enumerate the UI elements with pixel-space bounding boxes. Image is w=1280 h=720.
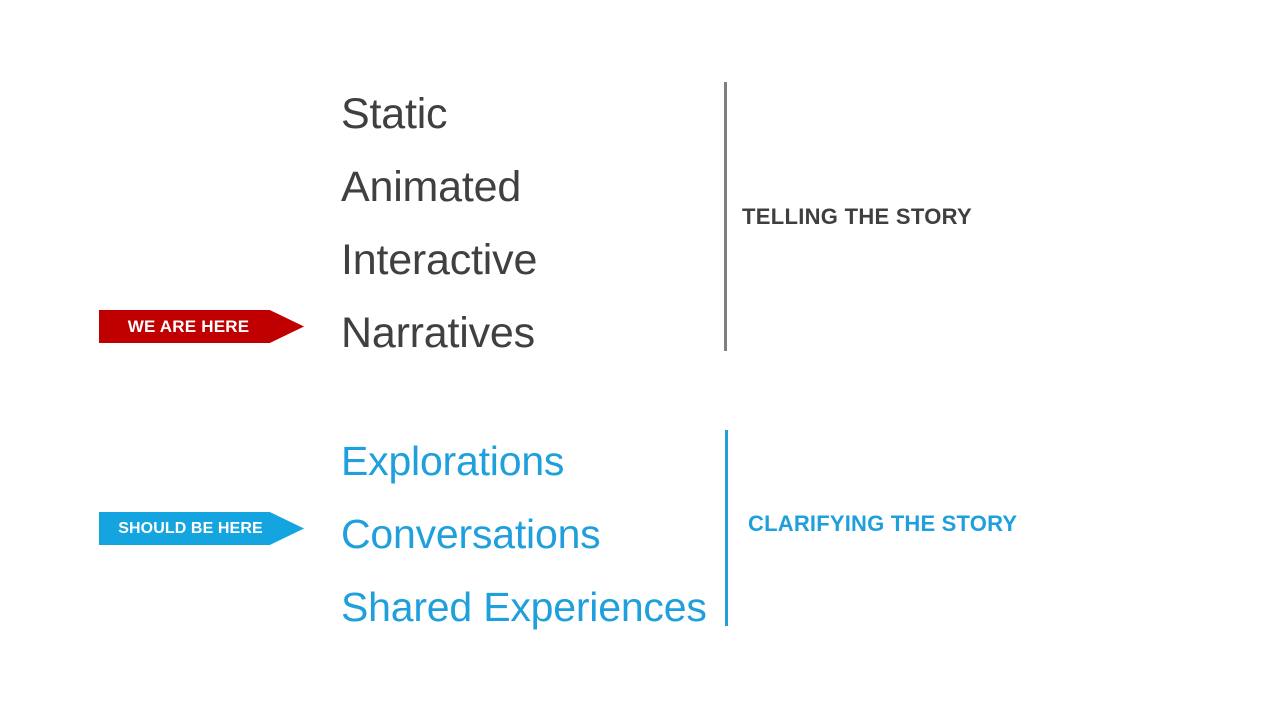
- section-caption-clarifying: CLARIFYING THE STORY: [748, 511, 1017, 537]
- slide-canvas: Static Animated Interactive Narratives T…: [0, 0, 1280, 720]
- vertical-divider-bottom: [725, 430, 728, 626]
- callout-arrow-label: SHOULD BE HERE: [118, 520, 285, 538]
- list-item: Interactive: [341, 224, 537, 297]
- callout-arrow-we-are-here[interactable]: WE ARE HERE: [99, 310, 304, 343]
- clarifying-the-story-item-list: Explorations Conversations Shared Experi…: [341, 425, 707, 644]
- list-item: Animated: [341, 151, 537, 224]
- telling-the-story-item-list: Static Animated Interactive Narratives: [341, 78, 537, 370]
- callout-arrow-should-be-here[interactable]: SHOULD BE HERE: [99, 512, 304, 545]
- list-item: Narratives: [341, 297, 537, 370]
- callout-arrow-label: WE ARE HERE: [128, 317, 276, 337]
- list-item: Shared Experiences: [341, 571, 707, 644]
- section-caption-telling: TELLING THE STORY: [742, 204, 972, 230]
- list-item: Conversations: [341, 498, 707, 571]
- vertical-divider-top: [724, 82, 727, 351]
- list-item: Explorations: [341, 425, 707, 498]
- list-item: Static: [341, 78, 537, 151]
